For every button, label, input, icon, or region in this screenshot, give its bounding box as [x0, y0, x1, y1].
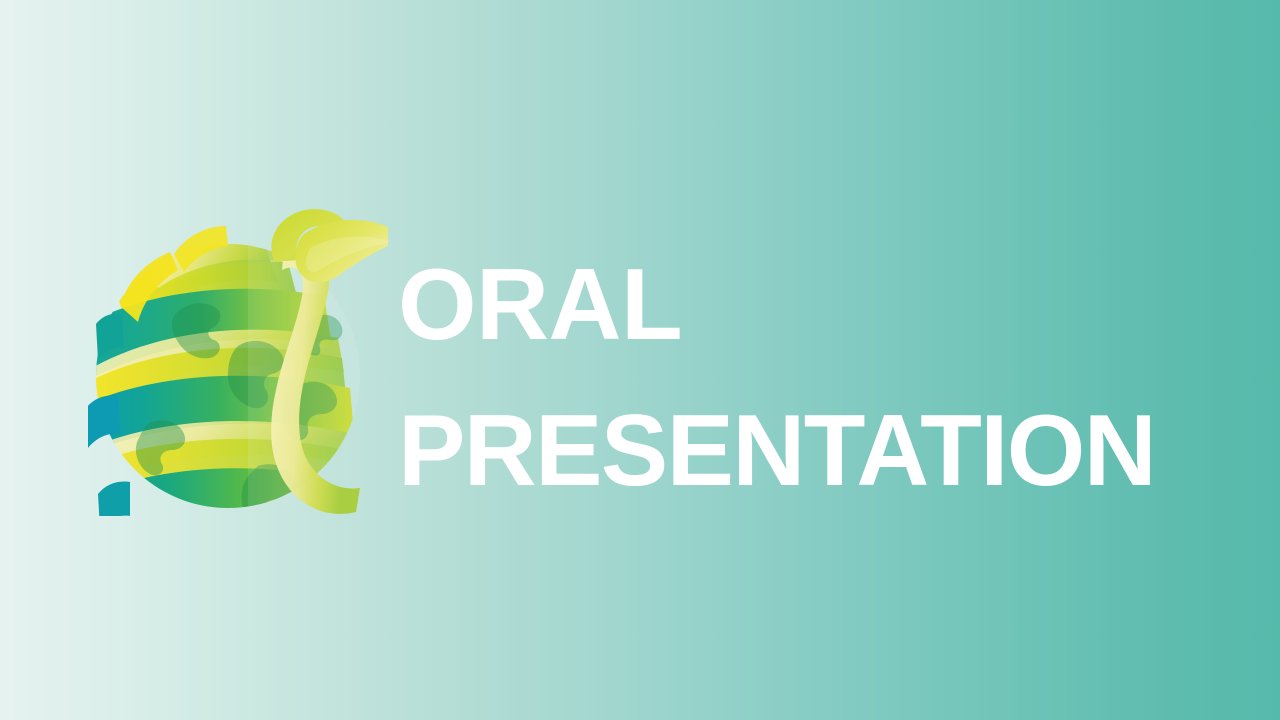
title-line-presentation: PRESENTATION [398, 378, 1248, 524]
page-title: ORAL PRESENTATION [398, 232, 1248, 524]
globe-leaf-logo [88, 196, 388, 516]
title-line-oral: ORAL [398, 232, 1248, 378]
title-slide: ORAL PRESENTATION [0, 0, 1280, 720]
